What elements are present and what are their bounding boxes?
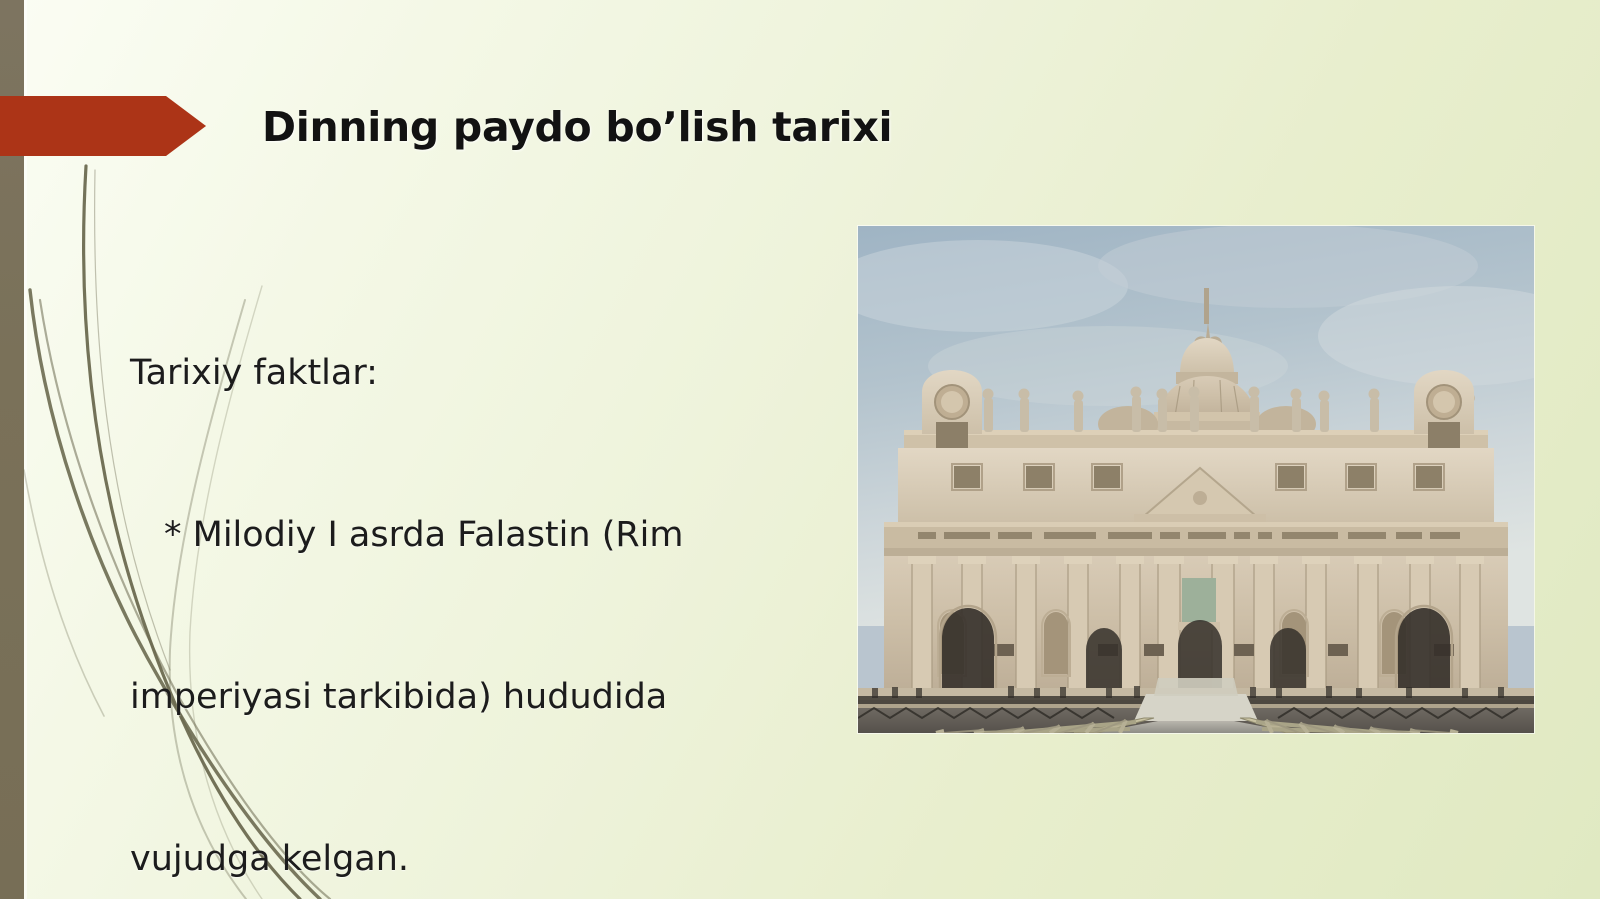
- body-line: Tarixiy faktlar:: [130, 346, 830, 400]
- body-text-block: Tarixiy faktlar: * Milodiy I asrda Falas…: [130, 238, 830, 899]
- body-line: vujudga kelgan.: [130, 832, 830, 886]
- page-title: Dinning paydo bo’lish tarixi: [262, 96, 1162, 158]
- body-line: imperiyasi tarkibida) hududida: [130, 670, 830, 724]
- presentation-slide: Dinning paydo bo’lish tarixi Tarixiy fak…: [0, 0, 1600, 899]
- st-peters-basilica-photo: [858, 226, 1534, 733]
- red-arrow-banner: [0, 96, 206, 156]
- body-line: * Milodiy I asrda Falastin (Rim: [130, 508, 830, 562]
